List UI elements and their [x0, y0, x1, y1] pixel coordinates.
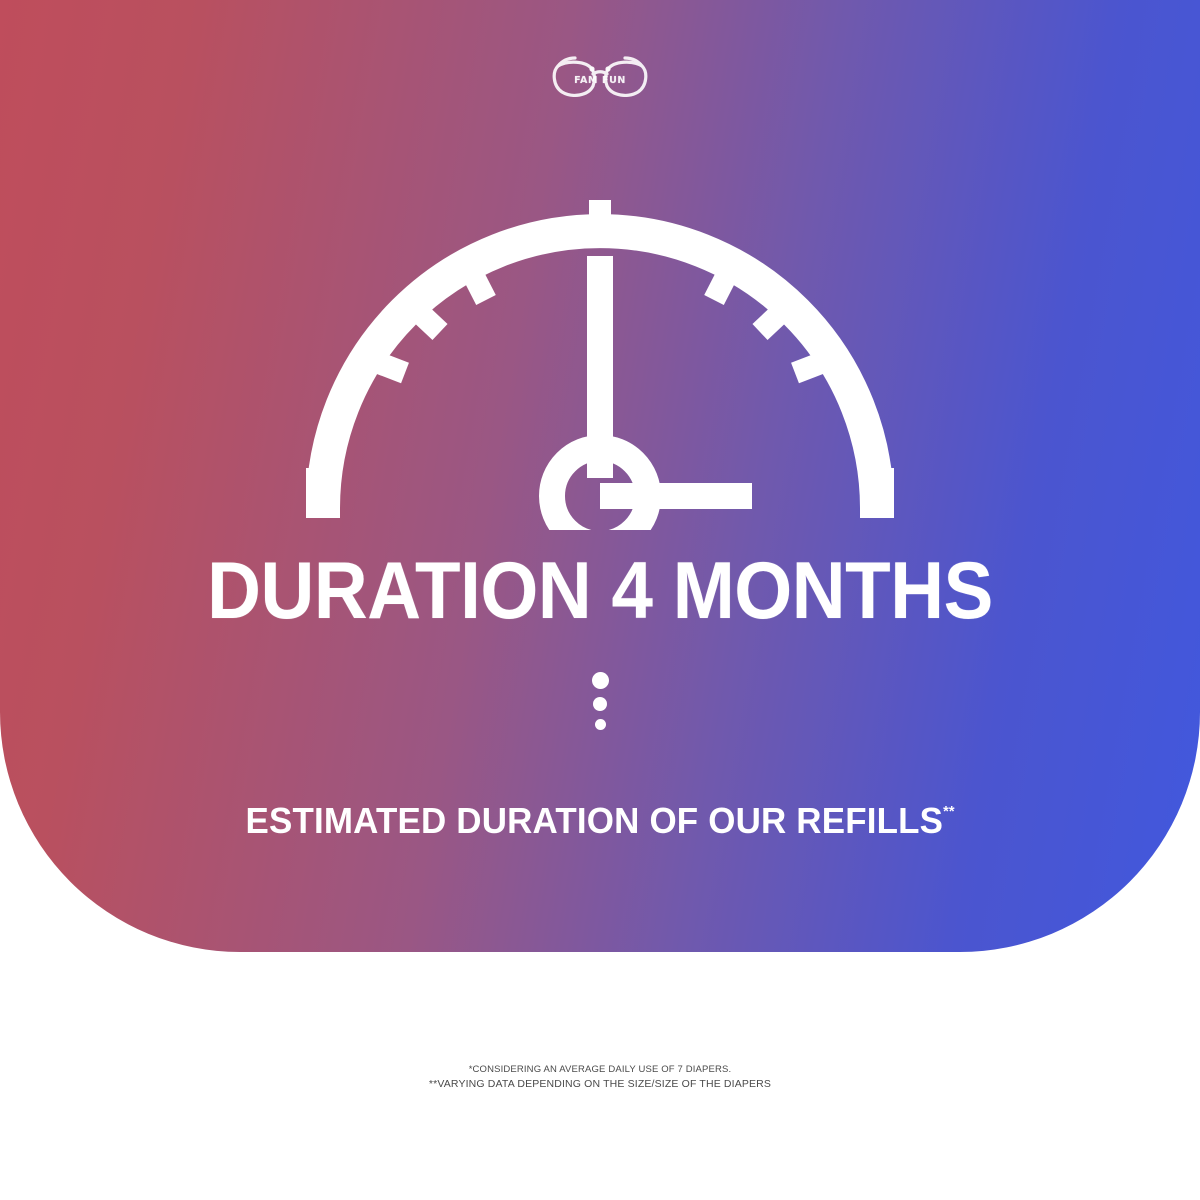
- brand-logo: FAM FUN: [548, 48, 652, 102]
- glasses-logo-icon: [548, 48, 652, 102]
- separator-dot-small: [595, 719, 606, 730]
- separator-dot-large: [592, 672, 609, 689]
- subheadline: ESTIMATED DURATION OF OUR REFILLS**: [18, 795, 1182, 842]
- separator-dot-medium: [593, 697, 607, 711]
- gradient-panel: FAM FUN: [0, 0, 1200, 952]
- footnote-line-2: **VARYING DATA DEPENDING ON THE SIZE/SIZ…: [0, 1077, 1200, 1092]
- infographic-canvas: FAM FUN: [0, 0, 1200, 1200]
- subheadline-footnote-marker: **: [943, 803, 954, 820]
- headline-duration: DURATION 4 MONTHS: [48, 549, 1152, 633]
- gauge-clock-icon: [300, 178, 900, 530]
- subheadline-text: ESTIMATED DURATION OF OUR REFILLS: [245, 800, 943, 841]
- three-dot-separator: [585, 672, 615, 730]
- brand-wordmark: FAM FUN: [548, 75, 652, 86]
- footnote-line-1: *CONSIDERING AN AVERAGE DAILY USE OF 7 D…: [0, 1062, 1200, 1077]
- footnotes: *CONSIDERING AN AVERAGE DAILY USE OF 7 D…: [0, 1062, 1200, 1092]
